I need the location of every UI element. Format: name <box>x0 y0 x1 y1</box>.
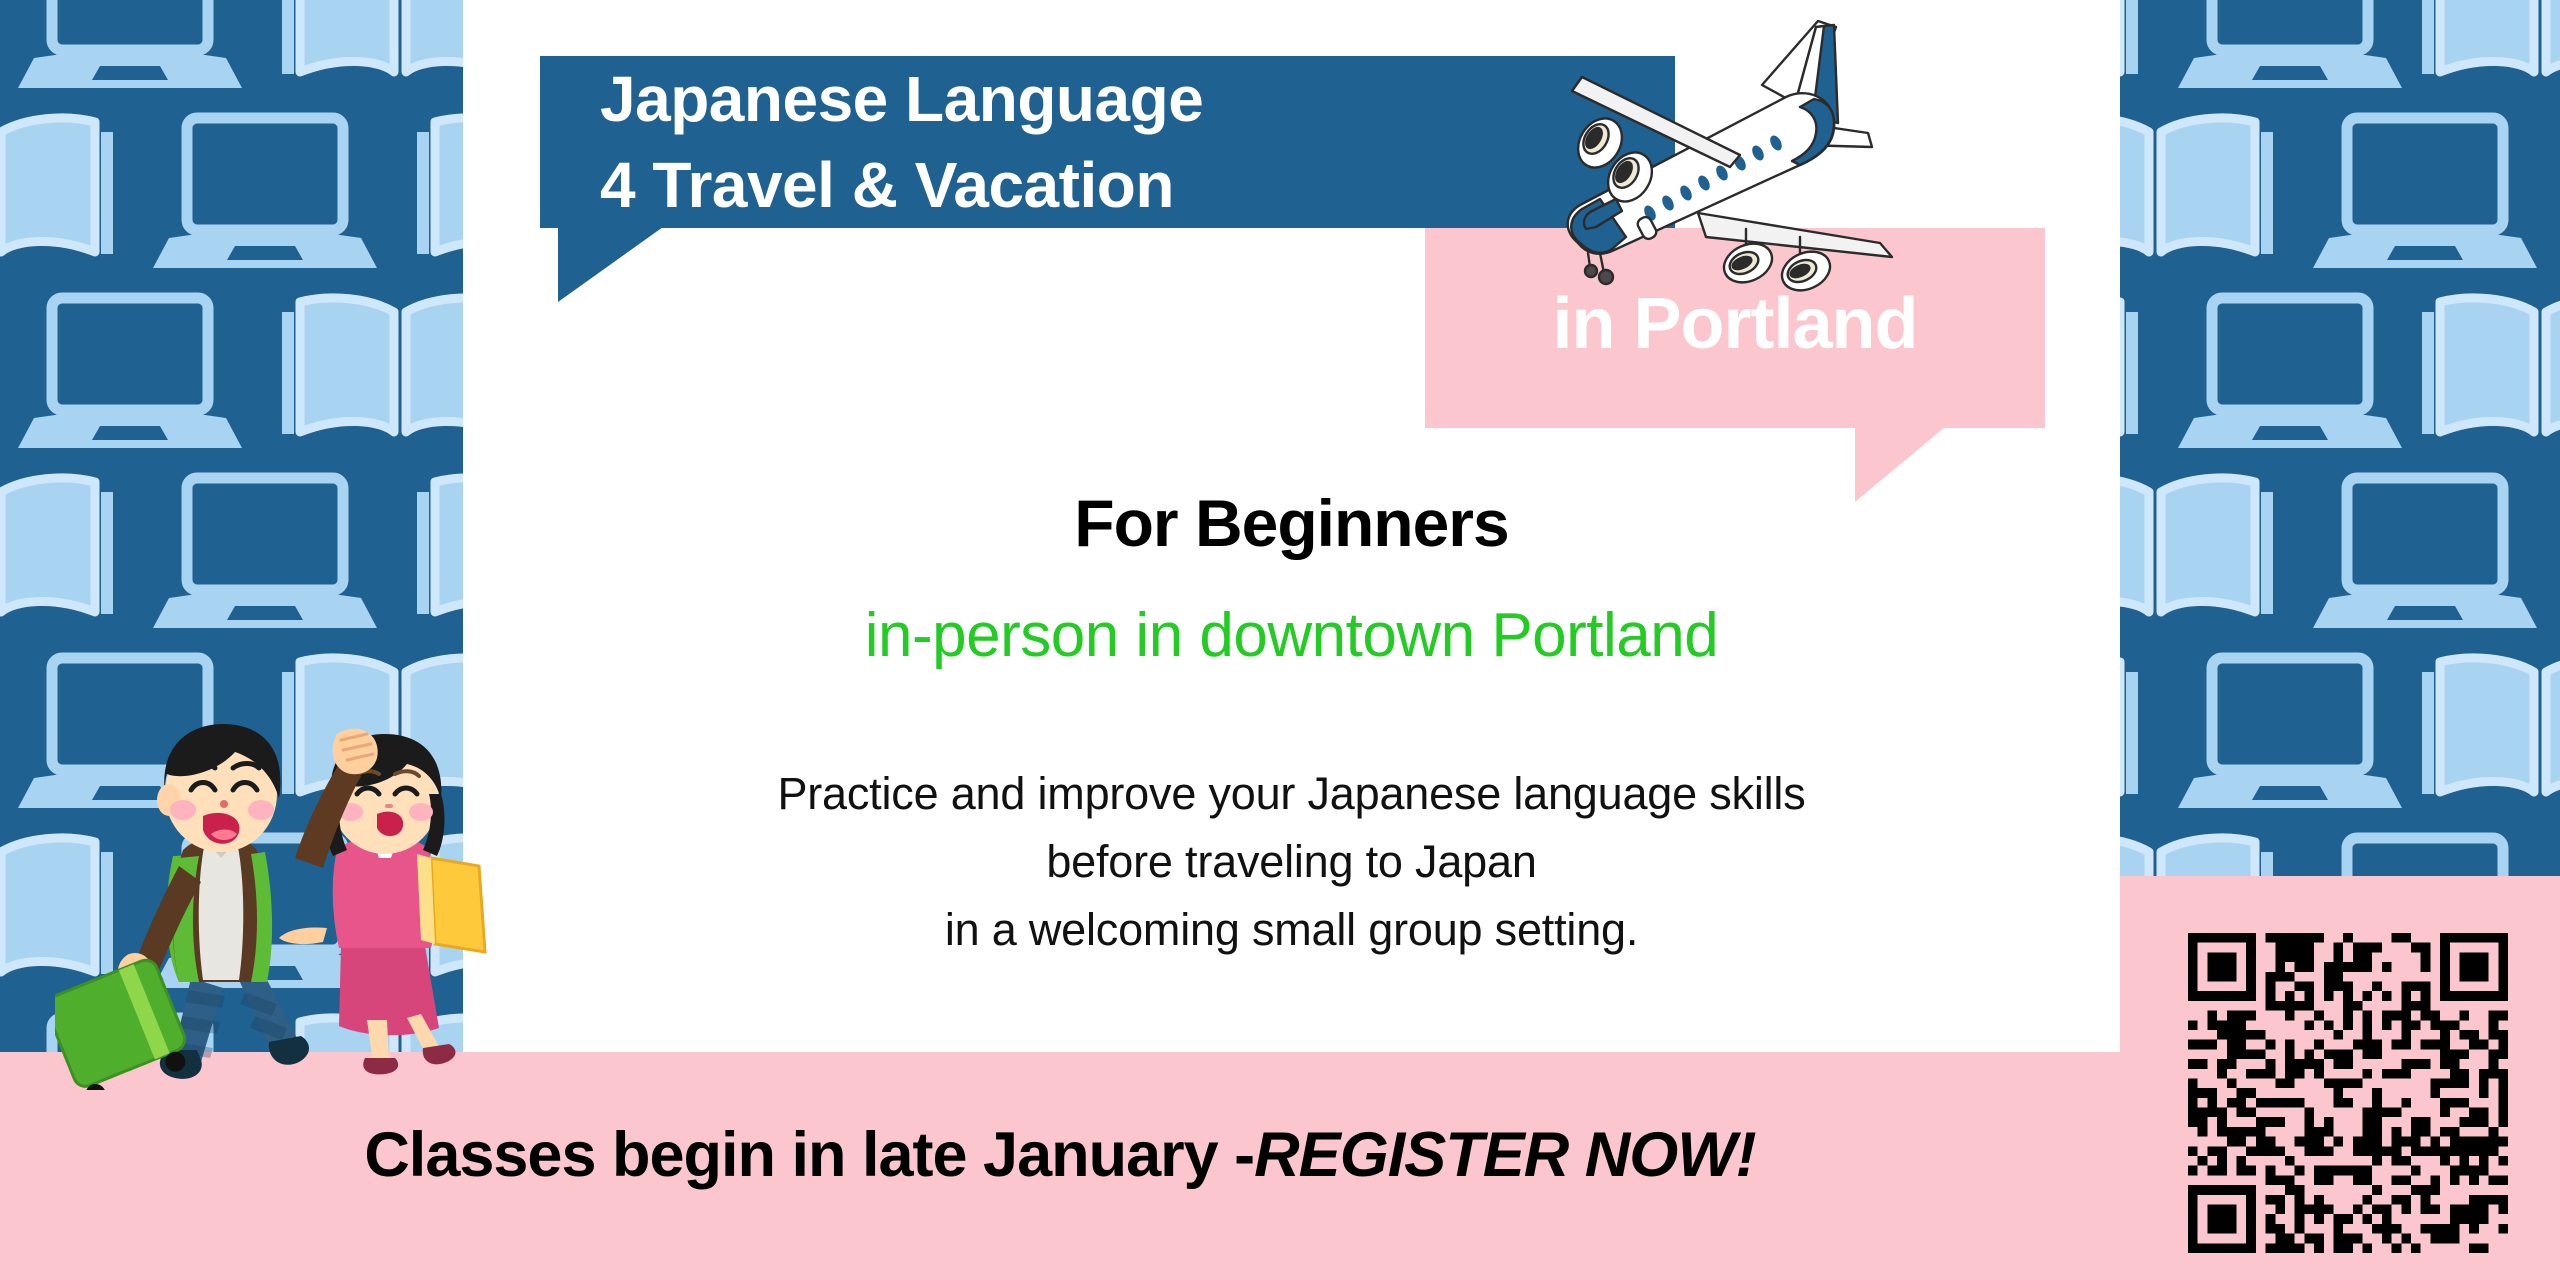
description-line-2: before traveling to Japan <box>463 828 2120 896</box>
banner-text-plain: Classes begin in late January - <box>364 1119 1254 1191</box>
description-line-1: Practice and improve your Japanese langu… <box>463 760 2120 828</box>
title-bubble-tail <box>558 227 663 302</box>
qr-code[interactable] <box>2188 933 2508 1253</box>
poster-canvas: in Portland Japanese Language 4 Travel &… <box>0 0 2560 1280</box>
headline: For Beginners <box>463 485 2120 561</box>
airplane-icon <box>1500 5 1930 295</box>
call-to-action-banner: Classes begin in late January - REGISTER… <box>0 1090 2120 1220</box>
location-bubble-label: in Portland <box>1553 284 1918 364</box>
description-line-3: in a welcoming small group setting. <box>463 896 2120 964</box>
subheadline: in-person in downtown Portland <box>463 600 2120 672</box>
banner-text-emphasis: REGISTER NOW! <box>1254 1119 1756 1191</box>
description-paragraph: Practice and improve your Japanese langu… <box>463 760 2120 964</box>
